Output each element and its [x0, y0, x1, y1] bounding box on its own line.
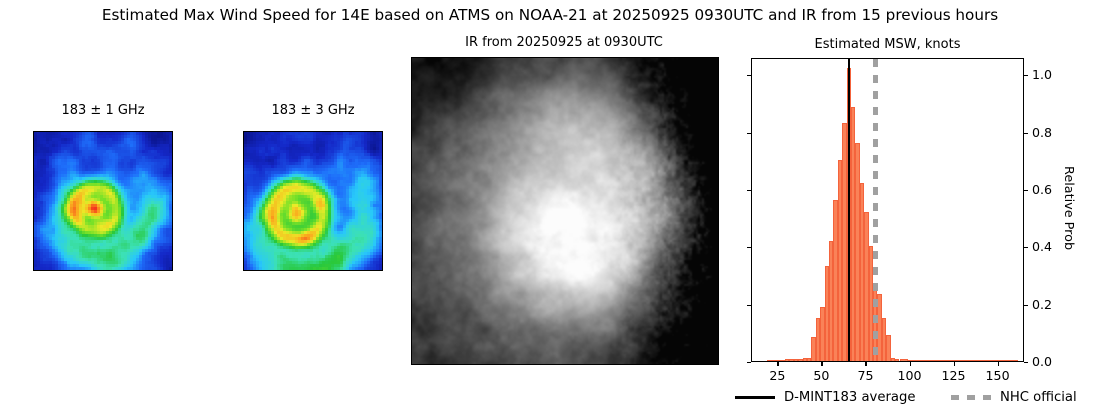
y-axis-tick-label: 0.2 [1032, 297, 1052, 312]
histogram-bar [996, 360, 1014, 361]
y-axis-tick-label: 0.6 [1032, 182, 1052, 197]
y-axis-tick [1024, 362, 1028, 363]
y-axis-tick [747, 190, 751, 191]
x-axis-tick-label: 25 [752, 368, 802, 383]
y-axis-tick [747, 75, 751, 76]
chart-legend: D-MINT183 average NHC official [735, 386, 1100, 409]
x-axis-tick [777, 362, 778, 366]
legend-item-average: D-MINT183 average [735, 386, 915, 409]
y-axis-tick [1024, 190, 1028, 191]
x-axis-tick [910, 362, 911, 366]
y-axis-tick-label: 0.0 [1032, 354, 1052, 369]
y-axis-label: Relative Prob [1061, 166, 1076, 250]
x-axis-tick [821, 362, 822, 366]
y-axis-tick-label: 0.4 [1032, 239, 1052, 254]
x-axis-tick-label: 50 [796, 368, 846, 383]
y-axis-tick [1024, 247, 1028, 248]
legend-solid-line-icon [735, 396, 775, 398]
histogram-bar [900, 359, 909, 361]
y-axis-tick-label: 0.8 [1032, 125, 1052, 140]
hist-title: Estimated MSW, knots [751, 37, 1024, 52]
microwave-183p1-image [33, 131, 173, 271]
microwave-183p3-canvas [244, 132, 382, 270]
figure-suptitle: Estimated Max Wind Speed for 14E based o… [0, 6, 1100, 24]
legend-dashed-line-icon [951, 395, 991, 401]
x-axis-tick-label: 75 [840, 368, 890, 383]
reference-line-nhc [873, 59, 879, 361]
legend-item-nhc: NHC official [951, 386, 1077, 409]
y-axis-tick-label: 1.0 [1032, 67, 1052, 82]
histogram-bar [908, 360, 926, 361]
x-axis-tick-label: 100 [885, 368, 935, 383]
y-axis-tick [1024, 133, 1028, 134]
histogram-bar [1014, 360, 1018, 361]
histogram-bar [979, 360, 997, 361]
mw1-title: 183 ± 1 GHz [33, 103, 173, 118]
ir-satellite-image [411, 57, 719, 365]
histogram-plot-area [752, 59, 1023, 361]
ir-title: IR from 20250925 at 0930UTC [411, 35, 717, 50]
histogram-bar [961, 360, 979, 361]
y-axis-tick [1024, 305, 1028, 306]
y-axis-tick [1024, 75, 1028, 76]
histogram-axes-frame [751, 58, 1024, 362]
legend-label-nhc: NHC official [1000, 390, 1077, 405]
microwave-183p3-image [243, 131, 383, 271]
histogram-bar [944, 360, 962, 361]
reference-line-average [848, 59, 850, 361]
mw2-title: 183 ± 3 GHz [243, 103, 383, 118]
x-axis-tick [865, 362, 866, 366]
figure-canvas: Estimated Max Wind Speed for 14E based o… [0, 0, 1100, 409]
microwave-183p1-canvas [34, 132, 172, 270]
legend-label-average: D-MINT183 average [784, 390, 915, 405]
x-axis-tick-label: 150 [973, 368, 1023, 383]
x-axis-tick [998, 362, 999, 366]
y-axis-tick [747, 305, 751, 306]
histogram-bar [926, 360, 944, 361]
y-axis-tick [747, 133, 751, 134]
y-axis-tick [747, 362, 751, 363]
y-axis-tick [747, 247, 751, 248]
x-axis-tick [954, 362, 955, 366]
msw-histogram-panel: Relative Prob 2550751001251500.00.20.40.… [751, 58, 1024, 362]
ir-satellite-canvas [412, 58, 718, 364]
x-axis-tick-label: 125 [929, 368, 979, 383]
